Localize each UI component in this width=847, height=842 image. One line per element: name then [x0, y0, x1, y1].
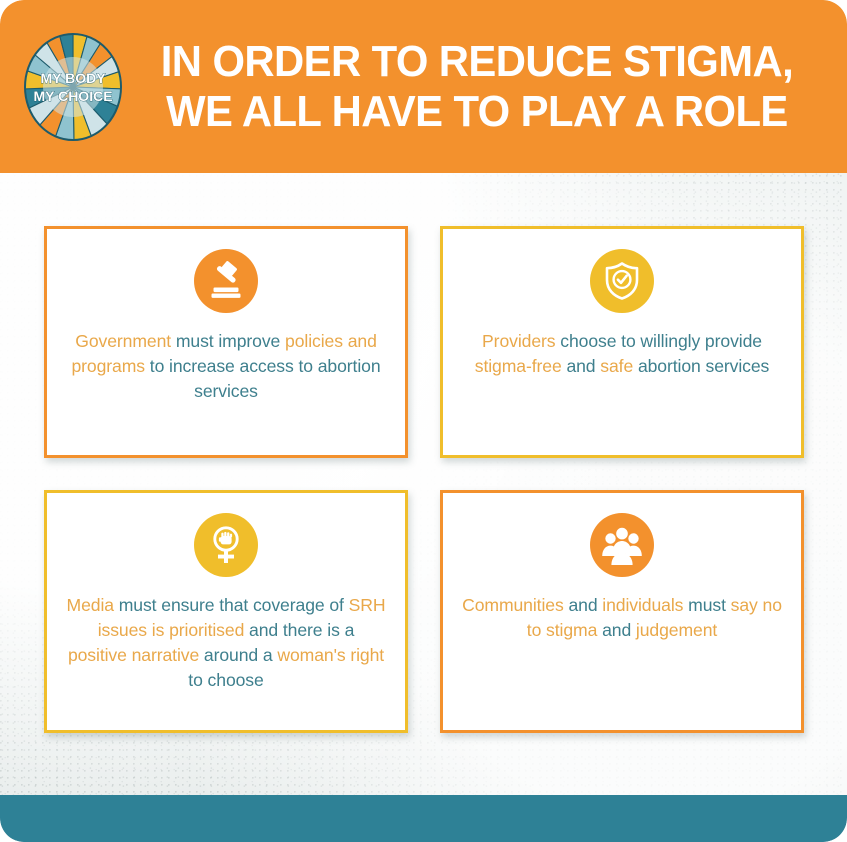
text-segment: woman's right — [277, 645, 384, 665]
text-segment: and there is a — [249, 620, 354, 640]
card-government: Government must improve policies and pro… — [44, 226, 408, 458]
text-segment: choose to willingly provide — [560, 331, 762, 351]
text-segment: around a — [204, 645, 277, 665]
text-segment: to choose — [188, 670, 263, 690]
shield-check-icon-circle — [590, 249, 654, 313]
card-media-text: Media must ensure that coverage of SRH i… — [66, 593, 386, 693]
text-segment: must improve — [176, 331, 285, 351]
cards-grid: Government must improve policies and pro… — [44, 226, 804, 733]
card-government-text: Government must improve policies and pro… — [66, 329, 386, 404]
my-body-my-choice-logo: MY BODY MY CHOICE — [22, 31, 124, 143]
text-segment: Communities — [462, 595, 568, 615]
text-segment: Government — [75, 331, 176, 351]
text-segment: safe — [600, 356, 638, 376]
people-group-icon — [601, 525, 643, 565]
gavel-icon-circle — [194, 249, 258, 313]
text-segment: must — [688, 595, 731, 615]
card-communities-text: Communities and individuals must say no … — [462, 593, 782, 643]
text-segment: must ensure that coverage of — [119, 595, 349, 615]
text-segment: and — [566, 356, 600, 376]
card-media: Media must ensure that coverage of SRH i… — [44, 490, 408, 733]
text-segment: and — [602, 620, 636, 640]
page-title-line-1: IN ORDER TO REDUCE STIGMA, — [142, 37, 812, 86]
infographic-poster: MY BODY MY CHOICE IN ORDER TO REDUCE STI… — [0, 0, 847, 842]
header-banner: MY BODY MY CHOICE IN ORDER TO REDUCE STI… — [0, 0, 847, 173]
text-segment: and — [568, 595, 602, 615]
text-segment: stigma-free — [475, 356, 567, 376]
text-segment: positive narrative — [68, 645, 204, 665]
card-providers: Providers choose to willingly provide st… — [440, 226, 804, 458]
text-segment: Providers — [482, 331, 560, 351]
text-segment: Media — [67, 595, 119, 615]
feminist-venus-fist-icon — [206, 525, 246, 565]
logo-line-1: MY BODY — [40, 70, 106, 86]
logo-line-2: MY CHOICE — [33, 88, 112, 104]
feminist-venus-fist-icon-circle — [194, 513, 258, 577]
shield-check-icon — [602, 261, 642, 301]
text-segment: individuals — [602, 595, 688, 615]
footer-bar — [0, 795, 847, 842]
gavel-icon — [206, 261, 246, 301]
starburst-badge-icon: MY BODY MY CHOICE — [22, 31, 124, 143]
card-communities: Communities and individuals must say no … — [440, 490, 804, 733]
people-group-icon-circle — [590, 513, 654, 577]
page-title-line-2: WE ALL HAVE TO PLAY A ROLE — [142, 87, 812, 136]
page-title: IN ORDER TO REDUCE STIGMA, WE ALL HAVE T… — [142, 37, 829, 136]
text-segment: judgement — [636, 620, 717, 640]
card-providers-text: Providers choose to willingly provide st… — [462, 329, 782, 379]
text-segment: to increase access to abortion services — [150, 356, 381, 401]
text-segment: abortion services — [638, 356, 769, 376]
